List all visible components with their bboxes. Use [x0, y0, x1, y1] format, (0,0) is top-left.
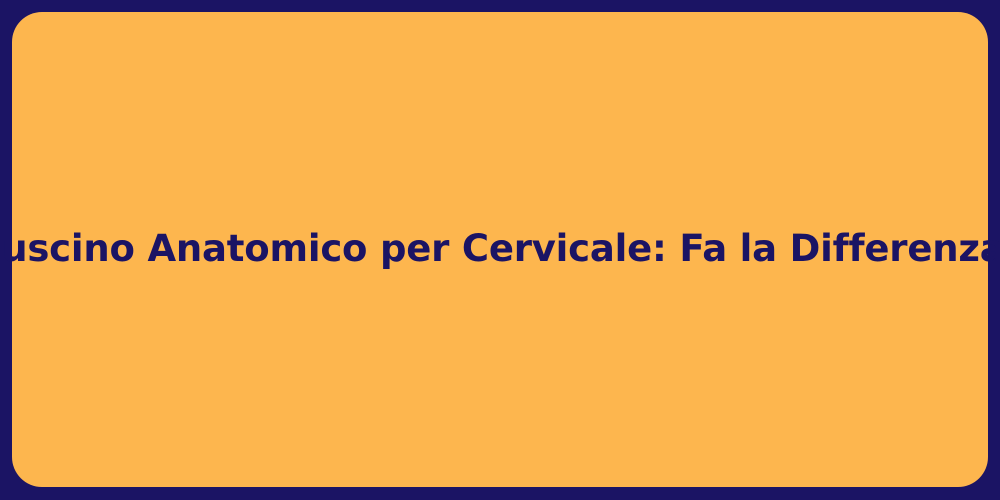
page-root: Cuscino Anatomico per Cervicale: Fa la D… — [0, 0, 1000, 500]
page-title: Cuscino Anatomico per Cervicale: Fa la D… — [0, 226, 1000, 272]
hero-card: Cuscino Anatomico per Cervicale: Fa la D… — [12, 12, 988, 487]
